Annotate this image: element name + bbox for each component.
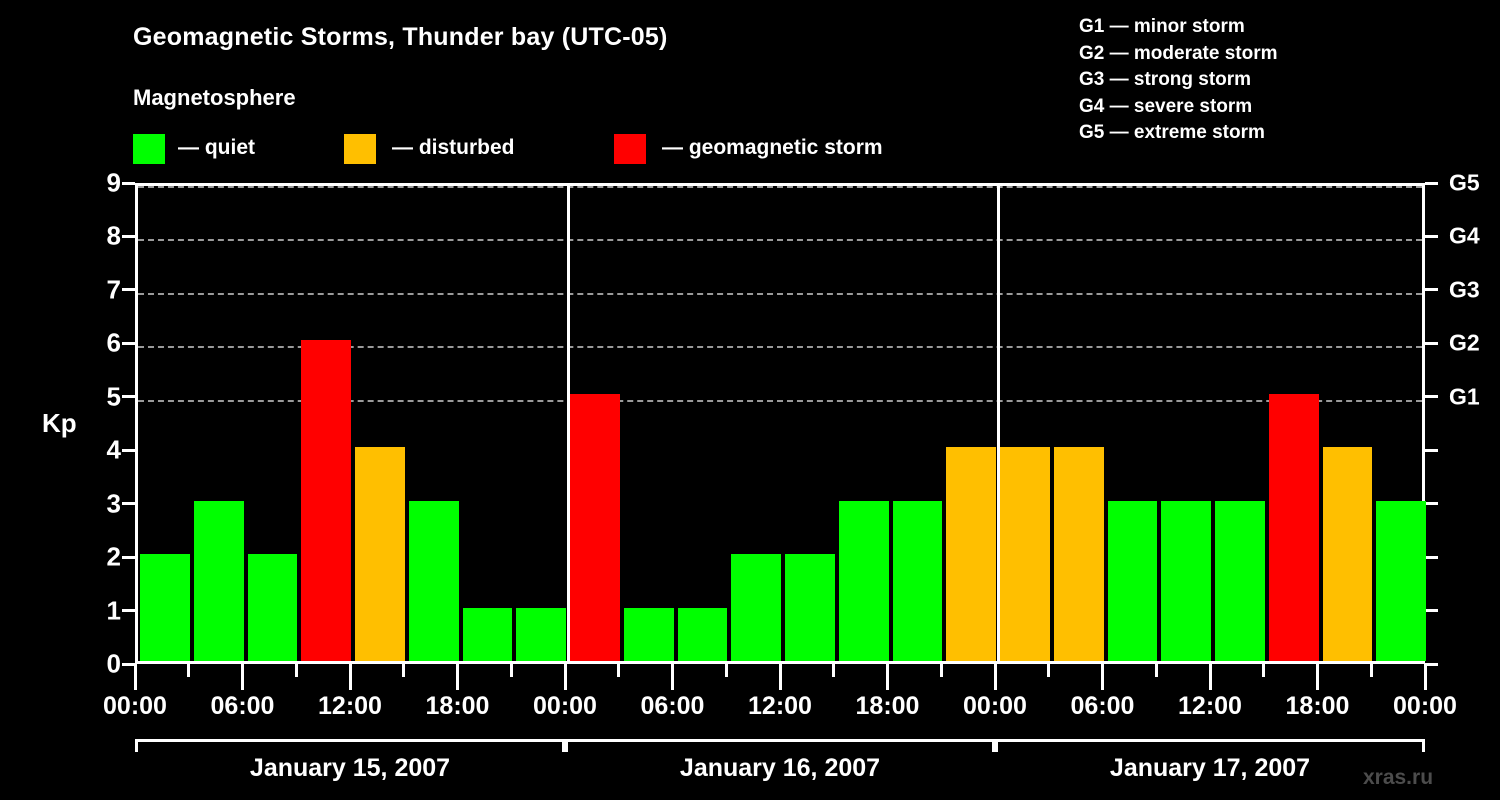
x-tick-label-8: 00:00 [963,692,1027,721]
bar-quiet [731,554,781,661]
day-bracket-3 [995,739,1425,752]
x-tick-label-5: 06:00 [641,692,705,721]
y-tick-label-5: 5 [107,381,121,412]
bar-quiet [1108,501,1158,661]
y-tick-label-7: 7 [107,274,121,305]
x-tick-3 [295,664,298,677]
g-axis-label-G5: G5 [1449,170,1480,197]
g-axis-label-G3: G3 [1449,276,1480,303]
bar-quiet [1161,501,1211,661]
x-tick-0 [134,664,137,690]
y-tick-label-1: 1 [107,595,121,626]
plot-area [135,183,1425,664]
x-tick-9 [617,664,620,677]
g-axis-label-G2: G2 [1449,330,1480,357]
x-tick-16 [994,664,997,690]
bar-quiet [893,501,943,661]
gridline-kp-8 [138,239,1422,241]
x-tick-19 [1155,664,1158,677]
x-tick-12 [779,664,782,690]
x-tick-14 [886,664,889,690]
x-tick-13 [832,664,835,677]
chart-subtitle: Magnetosphere [133,85,296,111]
legend-swatch-quiet [133,134,165,164]
legend-label-storm: — geomagnetic storm [662,136,883,160]
x-tick-6 [456,664,459,690]
legend-label-quiet: — quiet [178,136,255,160]
x-tick-8 [564,664,567,690]
x-tick-1 [187,664,190,677]
x-tick-20 [1209,664,1212,690]
bar-disturbed [1323,447,1373,661]
g-tick-mark-kp-3 [1425,502,1438,505]
bar-quiet [678,608,728,661]
x-tick-10 [671,664,674,690]
x-tick-label-12: 00:00 [1393,692,1457,721]
bar-quiet [409,501,459,661]
x-tick-label-3: 18:00 [426,692,490,721]
y-tick-label-9: 9 [107,168,121,199]
x-tick-11 [725,664,728,677]
g-tick-mark-kp-2 [1425,556,1438,559]
y-axis-title: Kp [42,408,77,439]
g-scale-line-4: G4 — severe storm [1079,94,1278,121]
bar-quiet [1376,501,1426,661]
x-tick-2 [241,664,244,690]
x-tick-15 [940,664,943,677]
x-tick-4 [349,664,352,690]
g-tick-mark-kp-6 [1425,342,1438,345]
g-tick-mark-kp-1 [1425,609,1438,612]
page-title: Geomagnetic Storms, Thunder bay (UTC-05) [133,23,667,52]
x-tick-label-6: 12:00 [748,692,812,721]
day-label-2: January 16, 2007 [680,754,880,783]
x-tick-label-1: 06:00 [211,692,275,721]
x-tick-label-11: 18:00 [1286,692,1350,721]
x-tick-21 [1262,664,1265,677]
bar-quiet [516,608,566,661]
x-tick-label-4: 00:00 [533,692,597,721]
g-axis-label-G1: G1 [1449,383,1480,410]
g-tick-mark-kp-7 [1425,288,1438,291]
gridline-kp-7 [138,293,1422,295]
y-tick-label-0: 0 [107,649,121,680]
chart-page: Geomagnetic Storms, Thunder bay (UTC-05)… [0,0,1500,800]
g-tick-mark-kp-5 [1425,395,1438,398]
x-tick-17 [1047,664,1050,677]
x-tick-5 [402,664,405,677]
day-bracket-1 [135,739,565,752]
bar-quiet [624,608,674,661]
g-scale-line-5: G5 — extreme storm [1079,120,1278,147]
watermark: xras.ru [1363,766,1433,790]
g-tick-mark-kp-9 [1425,182,1438,185]
y-tick-mark-6 [122,342,135,345]
y-tick-label-6: 6 [107,328,121,359]
x-tick-label-2: 12:00 [318,692,382,721]
g-scale-legend: G1 — minor stormG2 — moderate stormG3 — … [1079,14,1278,147]
bar-disturbed [1054,447,1104,661]
g-tick-mark-kp-0 [1425,663,1438,666]
y-tick-label-4: 4 [107,435,121,466]
bar-quiet [463,608,513,661]
x-tick-label-0: 00:00 [103,692,167,721]
x-tick-24 [1424,664,1427,690]
legend-label-disturbed: — disturbed [392,136,515,160]
x-tick-18 [1101,664,1104,690]
bar-disturbed [1000,447,1050,661]
bar-quiet [785,554,835,661]
bar-quiet [1215,501,1265,661]
y-tick-mark-2 [122,556,135,559]
g-tick-mark-kp-8 [1425,235,1438,238]
y-tick-mark-8 [122,235,135,238]
bar-storm [570,394,620,661]
y-tick-mark-4 [122,449,135,452]
bar-storm [301,340,351,661]
day-label-1: January 15, 2007 [250,754,450,783]
plot-inner [138,186,1422,661]
legend-swatch-disturbed [344,134,376,164]
y-tick-label-2: 2 [107,542,121,573]
g-scale-line-1: G1 — minor storm [1079,14,1278,41]
y-tick-mark-5 [122,395,135,398]
x-tick-22 [1316,664,1319,690]
bar-storm [1269,394,1319,661]
y-tick-label-8: 8 [107,221,121,252]
x-tick-7 [510,664,513,677]
g-tick-mark-kp-4 [1425,449,1438,452]
bar-disturbed [946,447,996,661]
day-bracket-2 [565,739,995,752]
y-tick-mark-7 [122,288,135,291]
x-tick-label-9: 06:00 [1071,692,1135,721]
bar-quiet [248,554,298,661]
y-tick-mark-1 [122,609,135,612]
bar-quiet [140,554,190,661]
bar-quiet [839,501,889,661]
y-tick-label-3: 3 [107,488,121,519]
bar-disturbed [355,447,405,661]
x-tick-23 [1370,664,1373,677]
y-tick-mark-3 [122,502,135,505]
g-scale-line-2: G2 — moderate storm [1079,41,1278,68]
bar-quiet [194,501,244,661]
x-tick-label-7: 18:00 [856,692,920,721]
x-tick-label-10: 12:00 [1178,692,1242,721]
gridline-kp-9 [138,186,1422,188]
y-tick-mark-9 [122,182,135,185]
g-scale-line-3: G3 — strong storm [1079,67,1278,94]
legend-swatch-storm [614,134,646,164]
g-axis-label-G4: G4 [1449,223,1480,250]
day-label-3: January 17, 2007 [1110,754,1310,783]
